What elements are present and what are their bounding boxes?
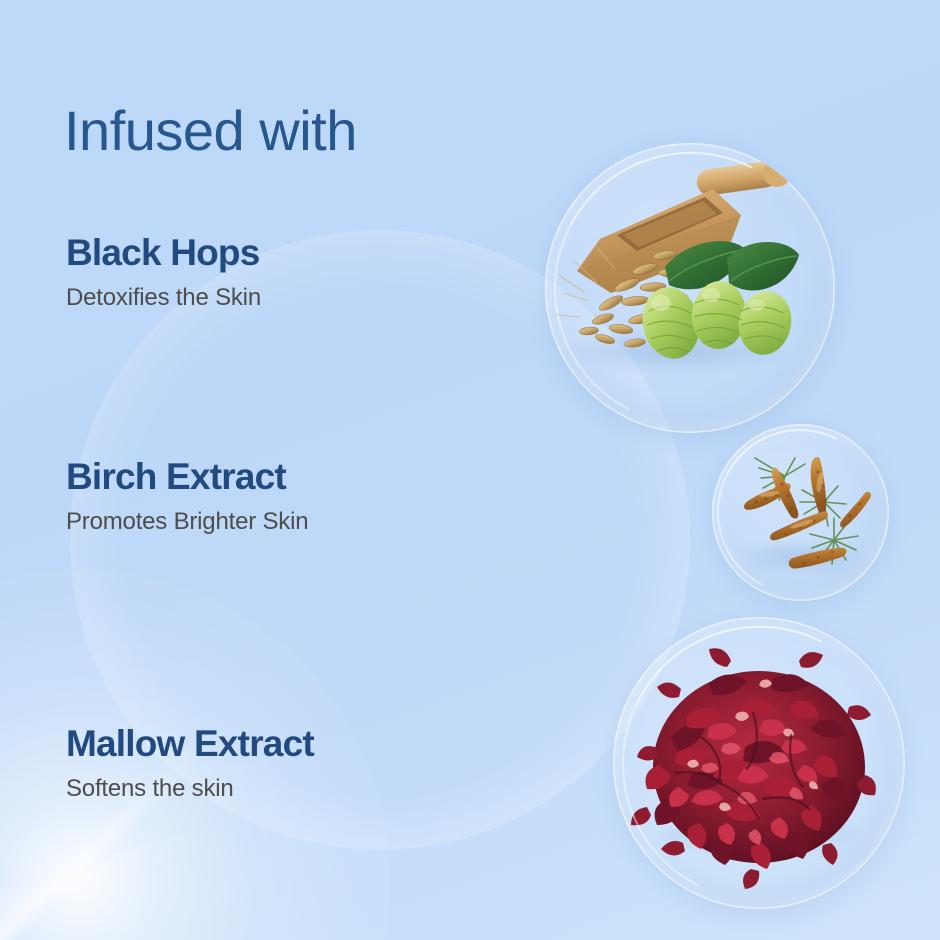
dish-contents-birch-extract [712,424,889,601]
birch-catkin-icon [742,456,871,572]
ingredient-block-mallow-extract: Mallow Extract Softens the skin [66,725,314,802]
hop-cone-icon [636,279,797,364]
black-hops-illustration [545,143,835,433]
ingredient-block-black-hops: Black Hops Detoxifies the Skin [66,234,261,311]
ingredient-infographic: Infused with Black Hops Detoxifies the S… [0,0,940,940]
birch-catkin-illustration [712,424,889,601]
ingredient-subtitle: Softens the skin [66,776,314,802]
page-title: Infused with [64,103,357,159]
mallow-petal-illustration [613,617,905,909]
ingredient-block-birch-extract: Birch Extract Promotes Brighter Skin [66,458,308,535]
petri-dish-black-hops [545,143,835,433]
ingredient-subtitle: Detoxifies the Skin [66,285,261,311]
dish-contents-black-hops [545,143,835,433]
ingredient-title: Birch Extract [66,458,308,497]
ingredient-title: Mallow Extract [66,725,314,764]
ingredient-title: Black Hops [66,234,261,273]
petri-dish-mallow-extract [613,617,905,909]
ingredient-subtitle: Promotes Brighter Skin [66,509,308,535]
petri-dish-birch-extract [712,424,889,601]
dish-contents-mallow-extract [613,617,905,909]
